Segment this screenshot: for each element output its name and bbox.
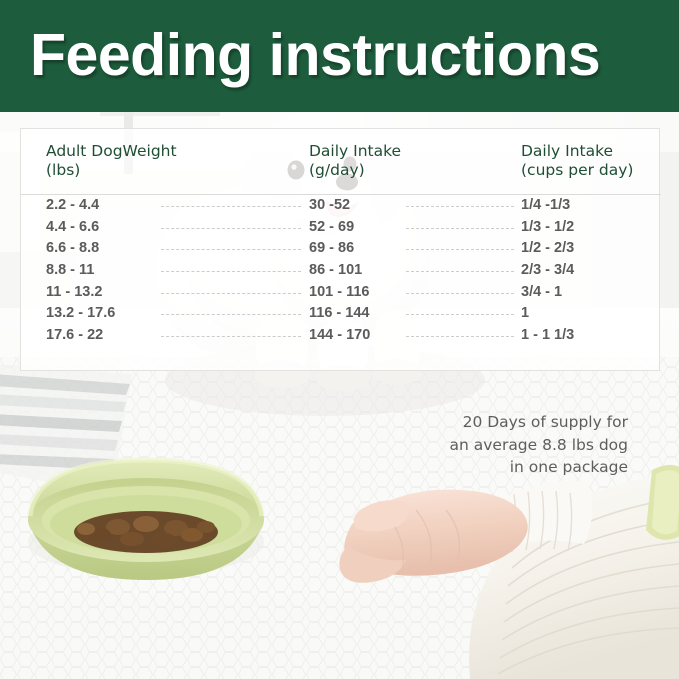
cell-grams: 144 - 170 xyxy=(309,325,370,346)
table-row: 13.2 - 17.6116 - 1441 xyxy=(21,303,661,325)
cell-grams: 101 - 116 xyxy=(309,282,369,303)
table-body: 2.2 - 4.430 -521/4 -1/34.4 - 6.652 - 691… xyxy=(21,195,661,347)
cell-weight: 8.8 - 11 xyxy=(46,260,94,281)
cell-grams: 69 - 86 xyxy=(309,238,354,259)
column-header-weight: Adult DogWeight (lbs) xyxy=(46,142,177,180)
cell-weight: 4.4 - 6.6 xyxy=(46,217,99,238)
leader-dots xyxy=(161,249,301,250)
cell-weight: 11 - 13.2 xyxy=(46,282,102,303)
leader-dots xyxy=(406,271,514,272)
cell-cups: 3/4 - 1 xyxy=(521,282,562,303)
feeding-instructions-page: Feeding instructions Adult DogWeight (lb… xyxy=(0,0,679,679)
food-bowl-illustration xyxy=(28,460,264,580)
leader-dots xyxy=(406,228,514,229)
column-header-cups: Daily Intake (cups per day) xyxy=(521,142,633,180)
cell-cups: 1 - 1 1/3 xyxy=(521,325,574,346)
cell-weight: 17.6 - 22 xyxy=(46,325,103,346)
leader-dots xyxy=(161,293,301,294)
leader-dots xyxy=(161,271,301,272)
feeding-table: Adult DogWeight (lbs) Daily Intake (g/da… xyxy=(20,128,660,371)
table-row: 4.4 - 6.652 - 691/3 - 1/2 xyxy=(21,217,661,239)
table-row: 8.8 - 1186 - 1012/3 - 3/4 xyxy=(21,260,661,282)
cell-grams: 116 - 144 xyxy=(309,303,369,324)
cell-cups: 2/3 - 3/4 xyxy=(521,260,574,281)
cell-weight: 2.2 - 4.4 xyxy=(46,195,99,216)
table-row: 11 - 13.2101 - 1163/4 - 1 xyxy=(21,282,661,304)
leader-dots xyxy=(406,206,514,207)
leader-dots xyxy=(161,228,301,229)
leader-dots xyxy=(406,249,514,250)
table-row: 17.6 - 22144 - 1701 - 1 1/3 xyxy=(21,325,661,347)
leader-dots xyxy=(161,314,301,315)
table-header-row: Adult DogWeight (lbs) Daily Intake (g/da… xyxy=(21,129,659,194)
leader-dots xyxy=(161,206,301,207)
cell-cups: 1/2 - 2/3 xyxy=(521,238,574,259)
cell-cups: 1/4 -1/3 xyxy=(521,195,570,216)
column-header-grams: Daily Intake (g/day) xyxy=(309,142,401,180)
table-row: 2.2 - 4.430 -521/4 -1/3 xyxy=(21,195,661,217)
cell-grams: 30 -52 xyxy=(309,195,350,216)
cell-weight: 6.6 - 8.8 xyxy=(46,238,99,259)
cell-weight: 13.2 - 17.6 xyxy=(46,303,115,324)
cell-cups: 1 xyxy=(521,303,529,324)
leader-dots xyxy=(406,293,514,294)
cell-grams: 86 - 101 xyxy=(309,260,362,281)
cell-cups: 1/3 - 1/2 xyxy=(521,217,574,238)
cell-grams: 52 - 69 xyxy=(309,217,354,238)
supply-note: 20 Days of supply for an average 8.8 lbs… xyxy=(388,411,628,479)
leader-dots xyxy=(406,314,514,315)
page-title: Feeding instructions xyxy=(30,17,600,93)
leader-dots xyxy=(406,336,514,337)
leader-dots xyxy=(161,336,301,337)
table-row: 6.6 - 8.869 - 861/2 - 2/3 xyxy=(21,238,661,260)
header-band: Feeding instructions xyxy=(0,0,679,112)
kibble xyxy=(74,511,218,553)
